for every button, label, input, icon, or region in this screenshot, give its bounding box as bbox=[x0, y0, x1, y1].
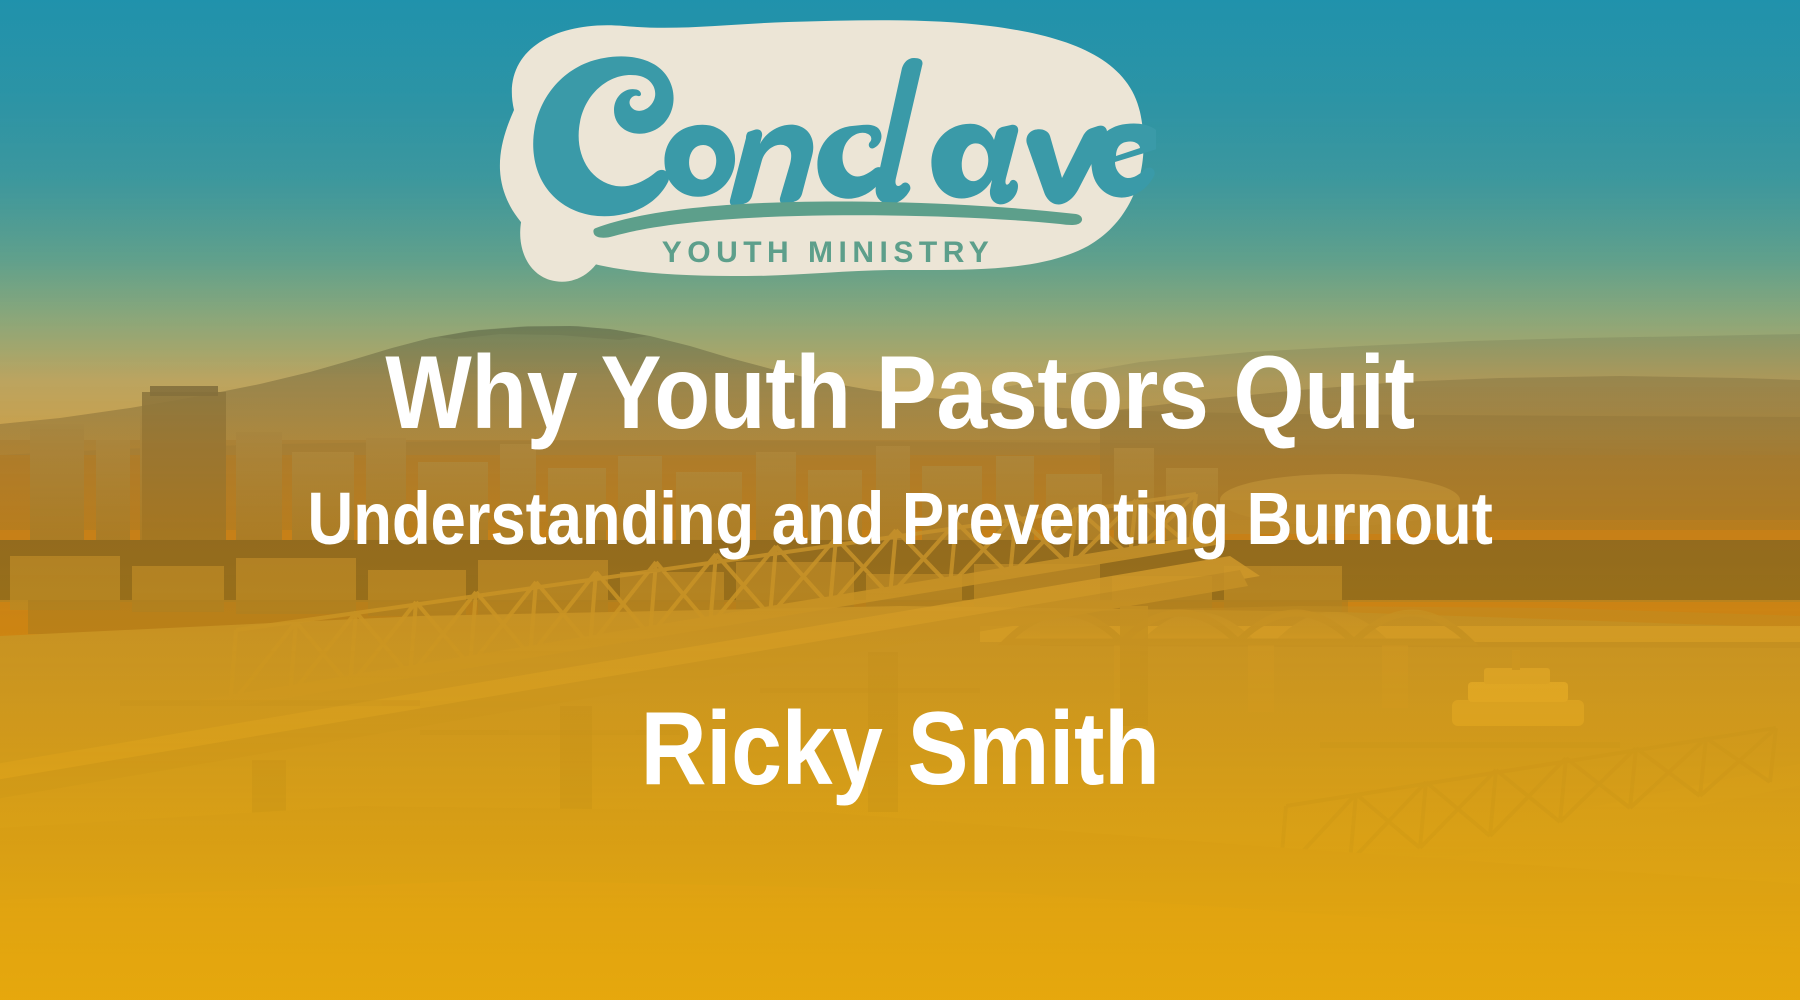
title-slide: YOUTH MINISTRY Why Youth Pastors Quit Un… bbox=[0, 0, 1800, 1000]
conclave-logo: YOUTH MINISTRY bbox=[428, 14, 1156, 282]
slide-content: YOUTH MINISTRY Why Youth Pastors Quit Un… bbox=[0, 0, 1800, 1000]
speaker-name: Ricky Smith bbox=[108, 697, 1692, 801]
session-title: Why Youth Pastors Quit bbox=[108, 341, 1692, 445]
session-subtitle: Understanding and Preventing Burnout bbox=[126, 482, 1674, 556]
logo-tagline: YOUTH MINISTRY bbox=[662, 236, 995, 269]
